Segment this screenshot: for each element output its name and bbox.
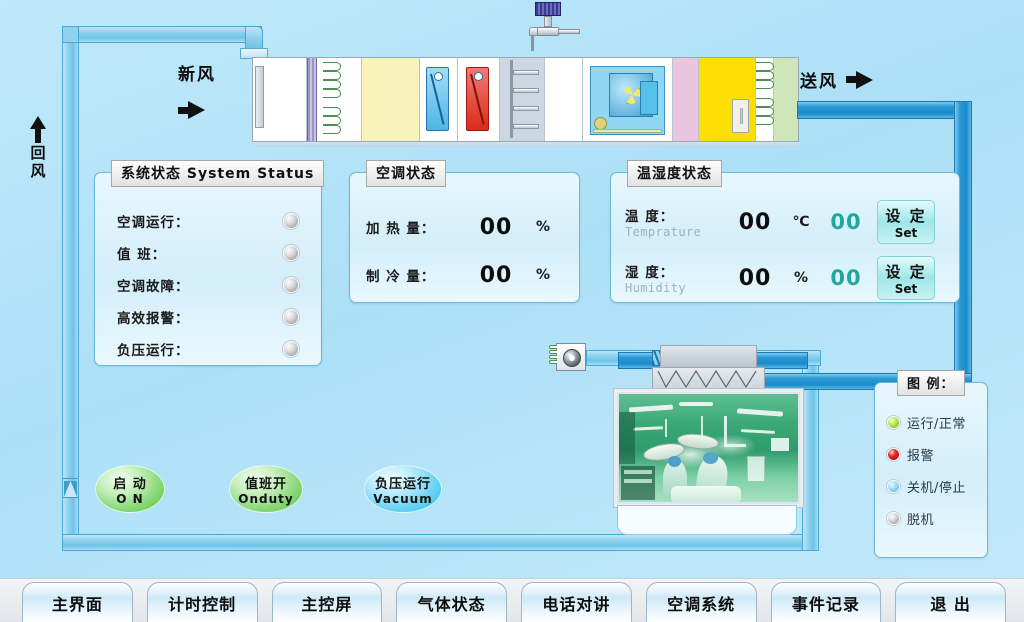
humidity-set-cn: 设 定 [885,261,926,282]
humidifier-control-valve[interactable] [527,2,577,50]
tab-main-panel[interactable]: 主控屏 [272,582,383,622]
ahu-section-mixing [253,58,307,141]
legend-label-offline: 脱机 [907,509,934,528]
humidity-set-en: Set [895,282,918,296]
operating-room-photo [617,392,800,504]
return-damper-symbol [63,478,78,498]
legend-panel: 图 例： 运行/正常 报警 关机/停止 脱机 [874,382,988,558]
tab-event-log[interactable]: 事件记录 [771,582,882,622]
tab-ac-system[interactable]: 空调系统 [646,582,757,622]
temperature-setpoint: 00 [821,210,871,234]
status-lamp-negative-pressure [283,341,299,357]
temperature-set-button[interactable]: 设 定 Set [877,200,935,244]
hvac-mimic-screen: 回风 [0,0,1024,622]
valve-pipe-icon [558,29,580,34]
legend-label-alarm: 报警 [907,445,934,464]
ahu-section-prefilter [307,58,363,141]
ahu-section-fan [583,58,673,141]
start-on-button[interactable]: 启 动 O N [95,465,165,513]
legend-label-stopped: 关机/停止 [907,477,966,496]
tab-intercom[interactable]: 电话对讲 [521,582,632,622]
temperature-set-cn: 设 定 [885,205,926,226]
temp-humidity-caption: 温湿度状态 [627,160,722,187]
onduty-button[interactable]: 值班开 Onduty [229,465,303,513]
legend-lamp-running-icon [887,416,900,429]
return-air-arrow-head [30,116,46,129]
system-status-panel: 系统状态 System Status 空调运行： 值 班： 空调故障： 高效报警… [94,172,322,366]
status-row: 高效报警： [95,301,321,333]
status-label: 空调故障： [117,275,283,295]
cooling-capacity-value: 00 [470,263,522,288]
ahu-inlet-damper [255,66,264,128]
ahu-section-hepa [699,58,757,141]
heat-recovery-coil-icon [323,62,341,137]
cooling-capacity-label: 制 冷 量： [366,265,470,285]
start-button-en: O N [116,492,143,506]
fresh-air-arrow-tail [178,107,188,114]
hepa-access-door-icon [732,99,749,133]
or-supply-plenum [660,345,757,368]
legend-lamp-alarm-icon [887,448,900,461]
air-handling-unit [252,57,799,142]
ac-status-row: 加 热 量： 00 % [350,203,579,251]
supply-air-label-group: 送风 [800,67,873,92]
valve-body-icon [536,27,560,36]
status-label: 高效报警： [117,307,283,327]
legend-caption: 图 例： [897,370,965,396]
supply-air-arrow-head [856,71,873,89]
legend-label-running: 运行/正常 [907,413,966,432]
return-air-label-group: 回风 [24,116,52,181]
fresh-air-arrow-head [188,101,205,119]
ahu-section-heating [458,58,500,141]
legend-item: 运行/正常 [887,413,987,432]
vacuum-button-en: Vacuum [373,492,432,506]
temperature-unit: ℃ [781,214,821,230]
system-status-caption: 系统状态 System Status [111,160,324,187]
humidity-label: 湿 度： [625,261,729,281]
valve-dropleg-icon [531,35,534,51]
status-label: 空调运行： [117,211,283,231]
legend-item: 报警 [887,445,987,464]
ahu-section-outlet [774,58,798,141]
status-lamp-hepa-alarm [283,309,299,325]
ac-status-panel: 空调状态 加 热 量： 00 % 制 冷 量： 00 % [349,172,580,303]
heating-capacity-unit: % [536,219,550,235]
fresh-air-label-group: 新风 [178,60,216,119]
return-duct-corner-tl [62,26,79,43]
humidity-row: 湿 度： Humidity 00 % 00 设 定 Set [611,253,959,303]
final-coil-icon [756,62,774,137]
ac-status-row: 制 冷 量： 00 % [350,251,579,299]
status-label: 值 班： [117,243,283,263]
temperature-row: 温 度： Temprature 00 ℃ 00 设 定 Set [611,197,959,247]
legend-item: 关机/停止 [887,477,987,496]
legend-item: 脱机 [887,509,987,528]
cooling-coil-icon [426,67,449,131]
heating-coil-icon [466,67,489,131]
supply-air-label: 送风 [800,67,838,92]
heating-capacity-value: 00 [470,215,522,240]
prefilter-media-icon [307,58,317,141]
return-duct-bottom [62,534,819,551]
vacuum-button[interactable]: 负压运行 Vacuum [364,465,442,513]
tab-main-screen[interactable]: 主界面 [22,582,133,622]
ahu-section-medium-filter [362,58,420,141]
ahu-shadow [256,142,799,147]
humidity-unit: % [781,270,821,286]
ahu-section-plenum [545,58,583,141]
start-button-cn: 启 动 [113,473,147,492]
temperature-label: 温 度： [625,205,729,225]
temperature-set-en: Set [895,226,918,240]
humidity-set-button[interactable]: 设 定 Set [877,256,935,300]
tab-timer-control[interactable]: 计时控制 [147,582,258,622]
legend-lamp-stopped-icon [887,480,900,493]
valve-actuator-icon [535,2,561,16]
ahu-section-cooling [420,58,458,141]
supply-duct-top [797,101,972,119]
temperature-value: 00 [729,210,781,235]
return-duct-top [62,26,262,43]
return-air-arrow-tail [35,129,41,143]
humidity-value: 00 [729,266,781,291]
or-floor-duct [617,505,797,535]
return-duct-left [62,26,79,551]
status-lamp-ac-running [283,213,299,229]
bottom-tab-bar: 主界面 计时控制 主控屏 气体状态 电话对讲 空调系统 事件记录 退 出 [0,578,1024,622]
return-air-label: 回风 [28,145,49,181]
status-lamp-onduty [283,245,299,261]
supply-fan-icon [590,66,665,135]
humidity-setpoint: 00 [821,266,871,290]
status-label: 负压运行： [117,339,283,359]
status-row: 负压运行： [95,333,321,365]
supply-air-arrow-tail [846,76,856,83]
temperature-sublabel: Temprature [625,225,729,239]
status-row: 空调故障： [95,269,321,301]
ahu-section-pink-filter [673,58,699,141]
hepa-pleat-icon [656,370,761,389]
exhaust-fan-icon [556,343,586,371]
vacuum-button-cn: 负压运行 [375,473,431,492]
status-row: 值 班： [95,237,321,269]
heating-capacity-label: 加 热 量： [366,217,470,237]
tab-exit[interactable]: 退 出 [895,582,1006,622]
status-lamp-ac-fault [283,277,299,293]
onduty-button-cn: 值班开 [245,473,287,492]
tab-gas-status[interactable]: 气体状态 [396,582,507,622]
ac-status-caption: 空调状态 [366,160,446,187]
exhaust-fan-coil-icon [549,345,557,369]
temp-humidity-panel: 温湿度状态 温 度： Temprature 00 ℃ 00 设 定 Set 湿 … [610,172,960,303]
ahu-section-humidifier [500,58,546,141]
ahu-section-final-coil [756,58,774,141]
onduty-button-en: Onduty [238,492,293,506]
valve-stem-icon [544,16,552,27]
cooling-capacity-unit: % [536,267,550,283]
fresh-air-label: 新风 [178,60,216,85]
status-row: 空调运行： [95,205,321,237]
humidity-sublabel: Humidity [625,281,729,295]
humidifier-manifold-icon [510,60,513,138]
legend-lamp-offline-icon [887,512,900,525]
